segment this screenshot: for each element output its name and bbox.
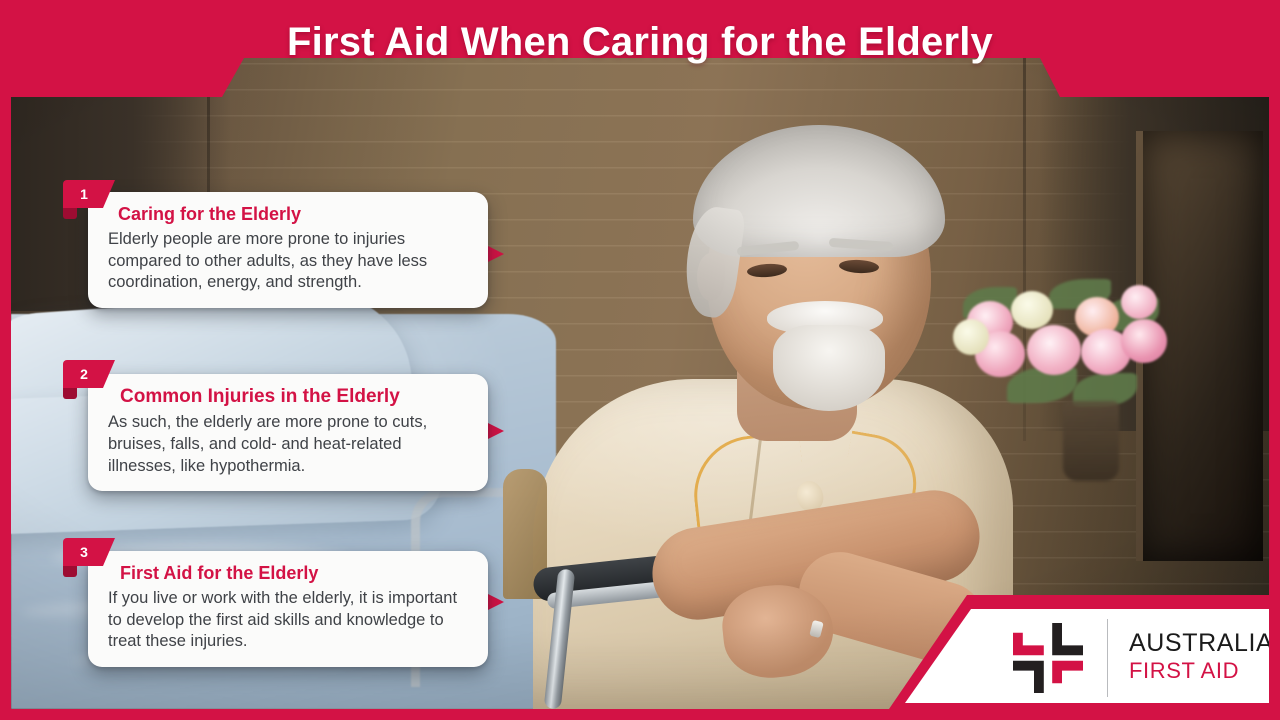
card-title-1: Caring for the Elderly bbox=[108, 204, 470, 225]
flower-vase bbox=[1063, 401, 1119, 481]
infographic-canvas: First Aid When Caring for the Elderly 1 … bbox=[0, 0, 1280, 720]
logo-tagline: FIRST AID bbox=[1129, 658, 1280, 684]
card-title-2: Common Injuries in the Elderly bbox=[108, 386, 470, 408]
page-title: First Aid When Caring for the Elderly bbox=[0, 20, 1280, 65]
card-body-1: Elderly people are more prone to injurie… bbox=[108, 229, 470, 294]
badge-fold bbox=[63, 208, 77, 219]
logo-wordmark: AUSTRALIAWIDE FIRST AID bbox=[1129, 629, 1280, 684]
callout-card-1[interactable]: Caring for the Elderly Elderly people ar… bbox=[88, 192, 488, 308]
australia-wide-cross-icon bbox=[1013, 623, 1083, 693]
logo-name-part2: WIDE bbox=[1273, 629, 1280, 657]
badge-fold bbox=[63, 388, 77, 399]
badge-fold bbox=[63, 566, 77, 577]
logo-company-name: AUSTRALIAWIDE bbox=[1129, 629, 1280, 657]
callout-card-3[interactable]: First Aid for the Elderly If you live or… bbox=[88, 551, 488, 667]
logo-divider bbox=[1107, 619, 1108, 697]
beard bbox=[773, 325, 885, 411]
card-title-3: First Aid for the Elderly bbox=[108, 563, 470, 584]
callout-card-2[interactable]: Common Injuries in the Elderly As such, … bbox=[88, 374, 488, 491]
card-body-3: If you live or work with the elderly, it… bbox=[108, 588, 470, 653]
logo-name-part1: AUSTRALIA bbox=[1129, 629, 1273, 657]
card-body-2: As such, the elderly are more prone to c… bbox=[108, 412, 470, 477]
